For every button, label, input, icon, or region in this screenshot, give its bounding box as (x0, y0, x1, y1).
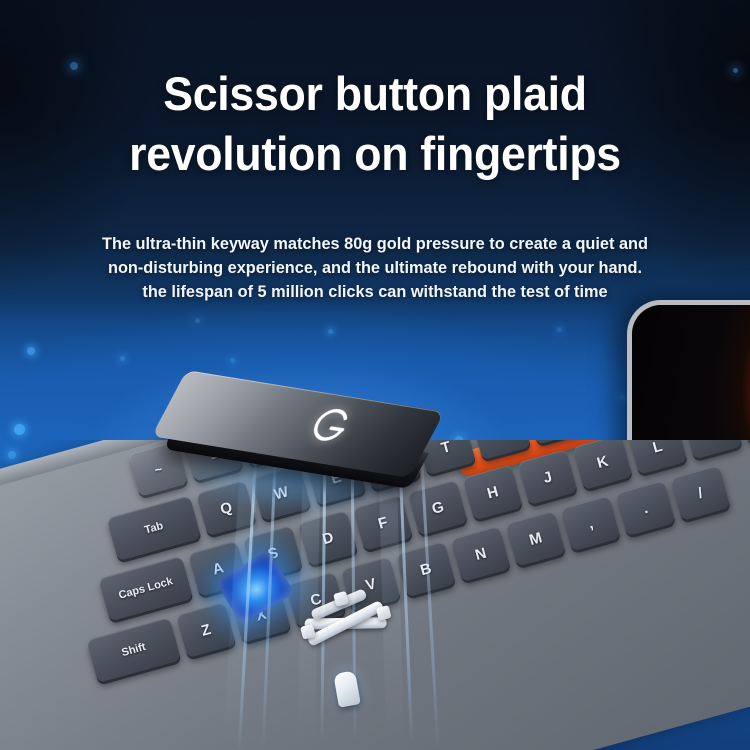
body-line-2: non-disturbing experience, and the ultim… (15, 256, 735, 280)
scissor-peg-right (376, 605, 392, 621)
headline-line-1: Scissor button plaid (19, 64, 732, 124)
body-line-1: The ultra-thin keyway matches 80g gold p… (15, 232, 735, 256)
headline-line-2: revolution on fingertips (19, 124, 732, 184)
body-line-3: the lifespan of 5 million clicks can wit… (15, 280, 735, 304)
product-poster: Scissor button plaid revolution on finge… (0, 0, 750, 750)
floating-keycap (150, 385, 450, 495)
description-text: The ultra-thin keyway matches 80g gold p… (15, 232, 735, 304)
page-title: Scissor button plaid revolution on finge… (19, 64, 732, 184)
